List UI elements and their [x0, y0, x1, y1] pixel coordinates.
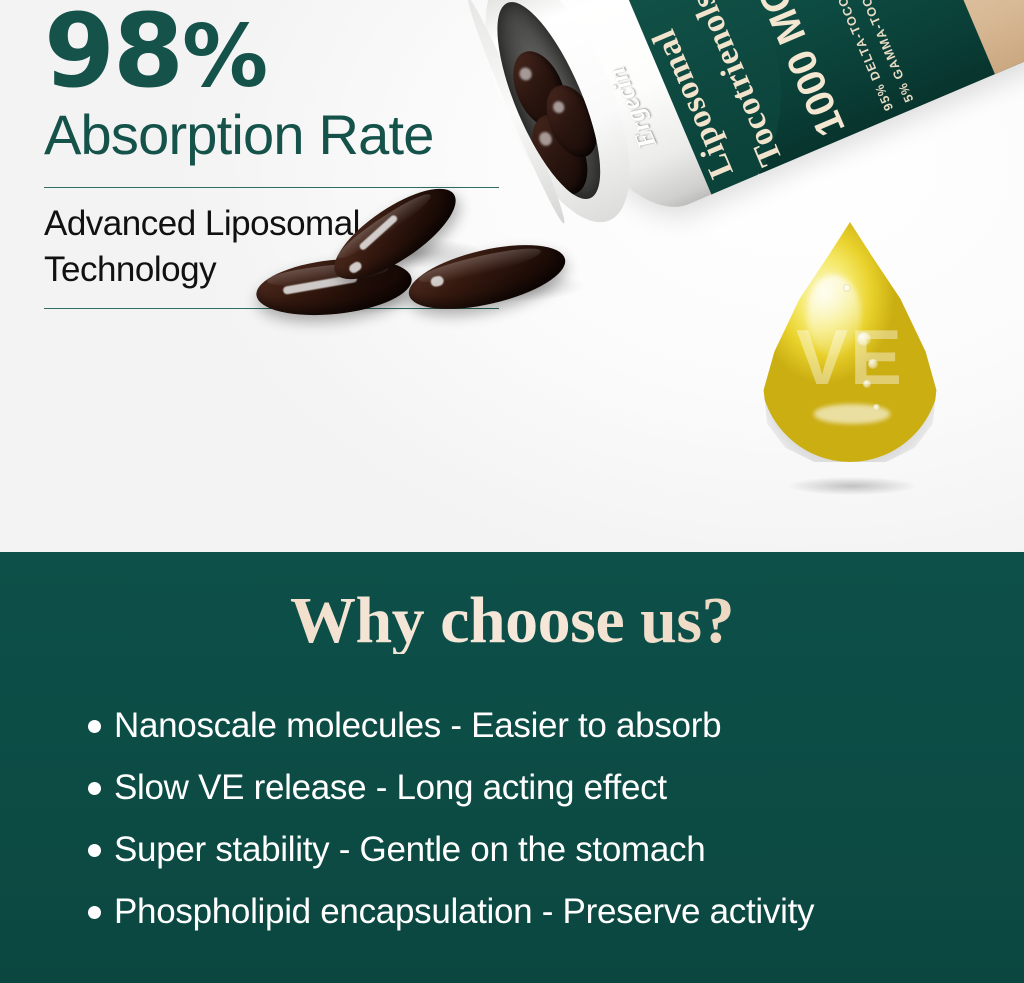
benefit-label: Super stability - Gentle on the stomach	[114, 831, 705, 870]
capsule-glint	[430, 275, 445, 288]
benefits-list: Nanoscale molecules - Easier to absorb S…	[0, 704, 1024, 952]
capsule-glint	[347, 260, 363, 274]
droplet-ve-watermark: VE	[760, 318, 940, 396]
benefit-item: Super stability - Gentle on the stomach	[0, 828, 1024, 872]
benefit-label: Phospholipid encapsulation - Preserve ac…	[114, 893, 814, 932]
bullet-dot-icon	[88, 720, 101, 733]
percentage-value: 98	[44, 0, 182, 111]
bullet-dot-icon	[88, 844, 101, 857]
benefits-section: Why choose us? Nanoscale molecules - Eas…	[0, 552, 1024, 983]
infographic-page: 98% Absorption Rate Advanced Liposomal T…	[0, 0, 1024, 983]
droplet-shadow	[788, 477, 916, 495]
percent-sign: %	[182, 7, 267, 107]
supplement-bottle: Ergecin Liposomal Tocotrienols 1000 MG 9…	[506, 0, 1024, 232]
divider-rule-top	[44, 187, 499, 189]
benefit-label: Slow VE release - Long acting effect	[114, 769, 667, 808]
benefit-item: Phospholipid encapsulation - Preserve ac…	[0, 890, 1024, 934]
benefit-item: Slow VE release - Long acting effect	[0, 766, 1024, 810]
benefit-label: Nanoscale molecules - Easier to absorb	[114, 707, 721, 746]
hero-title: Absorption Rate	[44, 106, 564, 165]
benefits-heading: Why choose us?	[0, 588, 1024, 654]
product-photo: Ergecin Liposomal Tocotrienols 1000 MG 9…	[520, 0, 1024, 552]
benefit-item: Nanoscale molecules - Easier to absorb	[0, 704, 1024, 748]
bullet-dot-icon	[88, 906, 101, 919]
hero-section: 98% Absorption Rate Advanced Liposomal T…	[0, 0, 1024, 552]
bullet-dot-icon	[88, 782, 101, 795]
oil-droplet: VE	[760, 222, 940, 462]
